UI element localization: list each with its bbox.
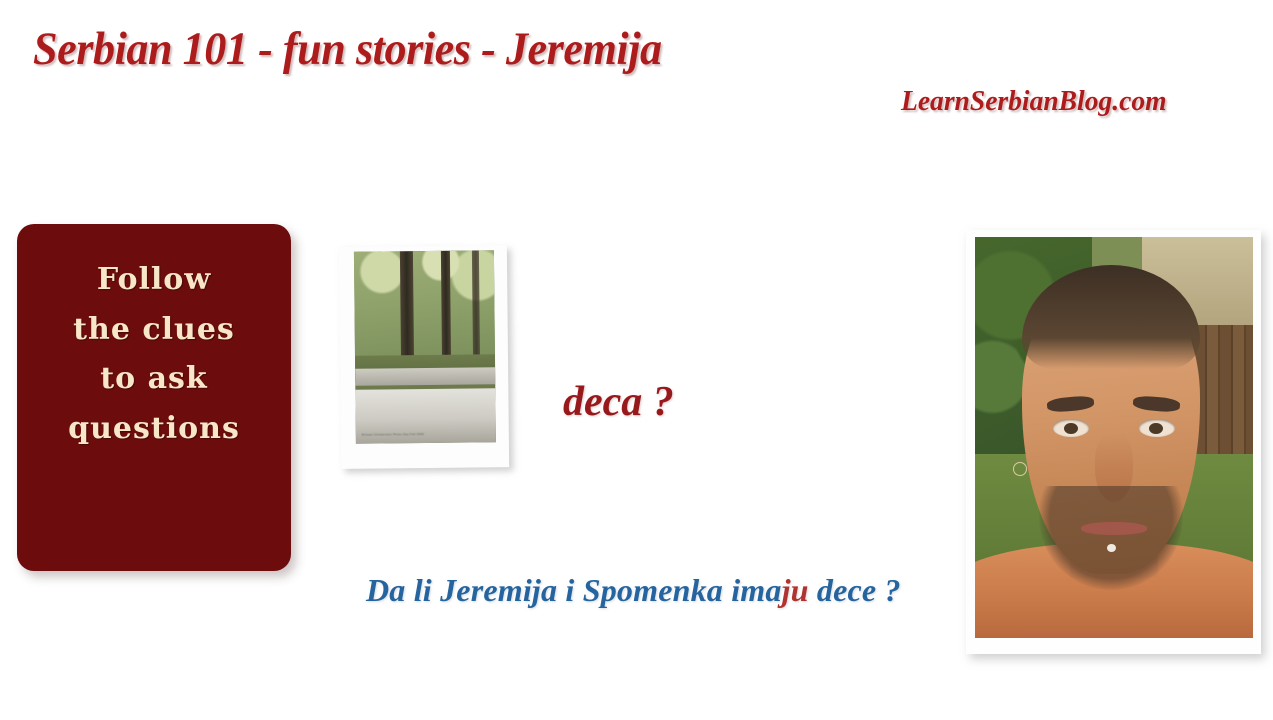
lip-piercing-icon <box>1107 544 1116 552</box>
site-name: LearnSerbianBlog.com <box>901 85 1167 118</box>
clue-word: deca ? <box>563 378 674 426</box>
children-photo: Brittani Christensen Photo Day Fall 2006 <box>354 250 496 443</box>
question-sentence: Da li Jeremija i Spomenka imaju dece ? <box>366 572 901 609</box>
instruction-line-3: to ask <box>31 363 277 395</box>
instruction-line-1: Follow <box>31 264 277 296</box>
question-segment-1: Da li Jeremija i Spomenka ima <box>366 572 782 608</box>
instruction-line-2: the clues <box>31 314 277 346</box>
man-photo-frame <box>966 230 1261 654</box>
tree-trunk-2 <box>441 251 451 370</box>
tree-trunk-3 <box>471 250 479 369</box>
children-photo-frame: Brittani Christensen Photo Day Fall 2006 <box>339 245 509 469</box>
page-title: Serbian 101 - fun stories - Jeremija <box>33 22 662 76</box>
instruction-box: Follow the clues to ask questions <box>17 224 291 571</box>
instruction-lines: Follow the clues to ask questions <box>17 264 291 444</box>
man-photo <box>975 237 1253 638</box>
instruction-line-4: questions <box>31 413 277 445</box>
photo-watermark: Brittani Christensen Photo Day Fall 2006 <box>362 432 424 437</box>
question-highlight: ju <box>782 572 809 608</box>
concrete-ledge-back <box>355 367 495 386</box>
man-mouth <box>1081 522 1148 535</box>
tree-trunk-1 <box>400 251 414 370</box>
question-segment-2: dece ? <box>809 572 901 608</box>
children-photo-scene: Brittani Christensen Photo Day Fall 2006 <box>354 250 496 443</box>
